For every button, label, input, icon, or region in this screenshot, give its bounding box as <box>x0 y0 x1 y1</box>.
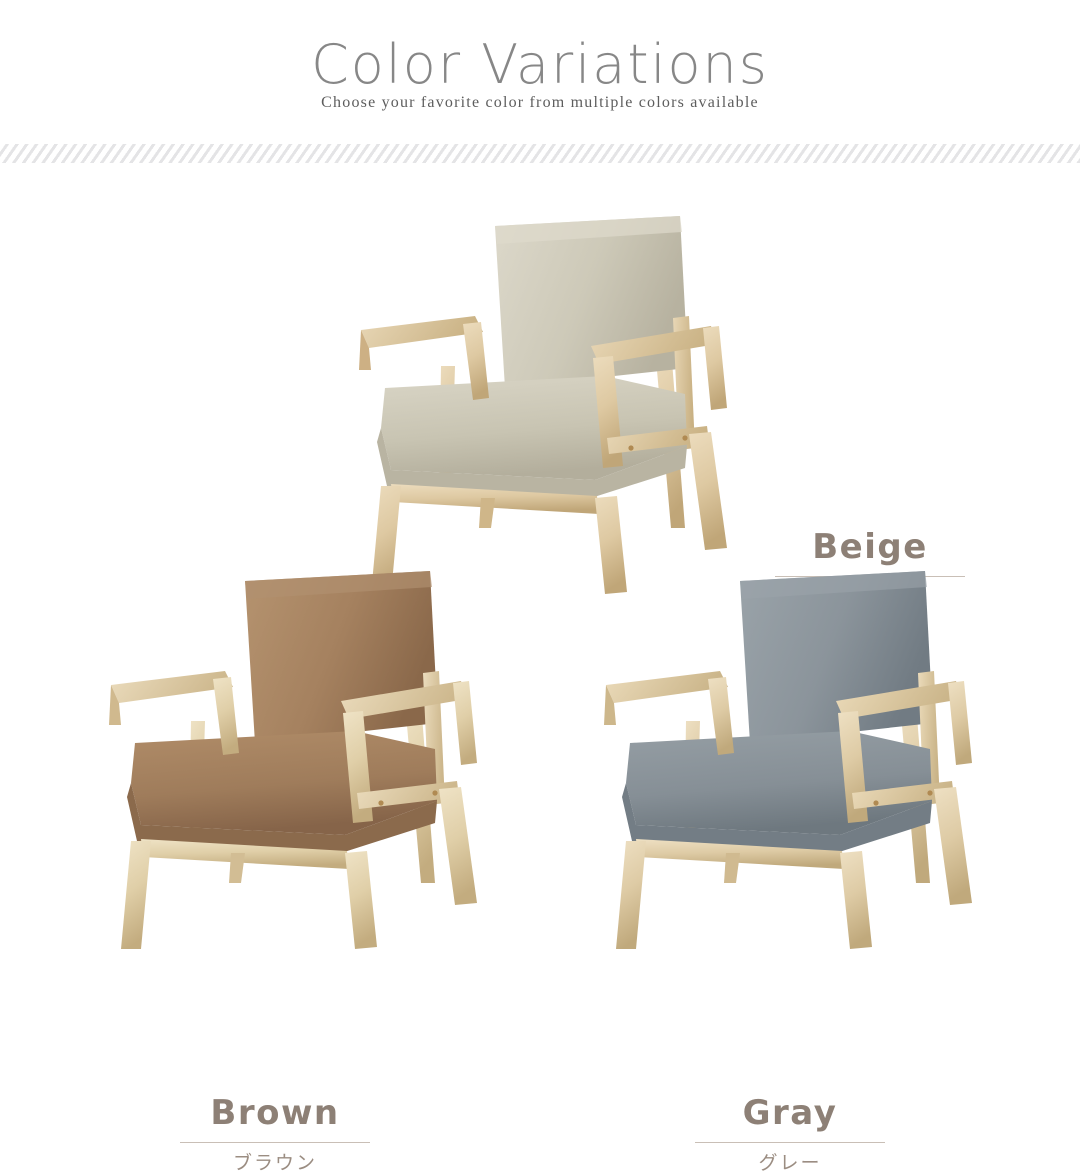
label-brown-jp: ブラウン <box>160 1152 390 1175</box>
page-title: Color Variations <box>0 38 1080 92</box>
page-subtitle: Choose your favorite color from multiple… <box>0 95 1080 111</box>
label-gray-jp: グレー <box>675 1152 905 1175</box>
label-gray-rule <box>695 1142 885 1143</box>
label-gray-en: Gray <box>675 1093 905 1134</box>
armchair-gray-image <box>600 553 980 953</box>
product-gallery: Beige ベージュ <box>0 163 1080 1080</box>
label-brown-en: Brown <box>160 1093 390 1134</box>
armchair-beige-image <box>355 198 735 598</box>
label-gray: Gray グレー <box>675 1093 905 1175</box>
label-brown-rule <box>180 1142 370 1143</box>
page-header: Color Variations Choose your favorite co… <box>0 0 1080 145</box>
product-card-brown[interactable] <box>105 553 485 953</box>
label-brown: Brown ブラウン <box>160 1093 390 1175</box>
product-card-gray[interactable] <box>600 553 980 953</box>
product-card-beige[interactable] <box>355 198 735 598</box>
diagonal-stripe-divider <box>0 144 1080 163</box>
armchair-brown-image <box>105 553 485 953</box>
